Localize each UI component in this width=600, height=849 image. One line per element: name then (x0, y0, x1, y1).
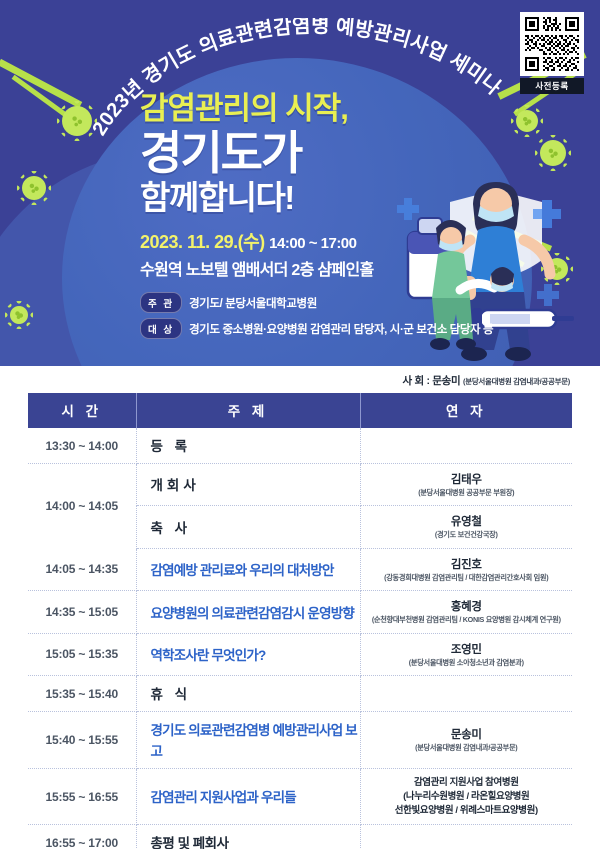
qr-code-icon[interactable] (520, 12, 584, 76)
cell-topic: 역학조사란 무엇인가? (136, 633, 360, 675)
virus-icon (22, 176, 46, 200)
hero-meta-row: 대 상 경기도 중소병원·요양병원 감염관리 담당자, 시·군 보건소 담당자 … (140, 318, 470, 339)
table-row: 14:35 ~ 15:05 요양병원의 의료관련감염감시 운영방향 홍혜경 (순… (28, 591, 572, 633)
table-row: 15:40 ~ 15:55 경기도 의료관련감염병 예방관리사업 보고 문송미 … (28, 712, 572, 769)
speaker-affiliation: (강동경희대병원 감염관리팀 / 대한감염관리간호사회 임원) (365, 573, 569, 583)
topic-text: 감염예방 관리료와 우리의 대처방안 (151, 563, 334, 578)
cell-topic: 요양병원의 의료관련감염감시 운영방향 (136, 591, 360, 633)
qr-label: 사전등록 (520, 78, 584, 94)
topic-text: 등 록 (151, 439, 192, 454)
table-row: 14:00 ~ 14:05 개회사 김태우 (분당서울대병원 공공부문 부원장) (28, 464, 572, 506)
schedule-table-head: 시 간 주 제 연 자 (28, 393, 572, 428)
event-time-text: 14:00 ~ 17:00 (269, 235, 356, 252)
cell-time: 16:55 ~ 17:00 (28, 825, 136, 849)
speaker-name: 유영철 (365, 513, 569, 529)
table-row: 15:35 ~ 15:40 휴 식 (28, 676, 572, 712)
speaker-name: 홍혜경 (365, 598, 569, 614)
cell-speaker: 김태우 (분당서울대병원 공공부문 부원장) (360, 464, 572, 506)
cell-speaker: 조영민 (분당서울대병원 소아청소년과 감염분과) (360, 633, 572, 675)
speaker-name: 김태우 (365, 471, 569, 487)
title-line-3: 함께합니다! (140, 179, 470, 217)
topic-text: 역학조사란 무엇인가? (151, 648, 266, 663)
host-label: 사 회 : 문송미 (403, 375, 461, 387)
hero-meta-list: 주 관 경기도/ 분당서울대학교병원 대 상 경기도 중소병원·요양병원 감염관… (140, 292, 470, 339)
host-affiliation: (분당서울대병원 감염내과/공공부문) (463, 377, 570, 386)
cell-speaker: 유영철 (경기도 보건건강국장) (360, 506, 572, 548)
cell-topic: 총평 및 폐회사 (136, 825, 360, 849)
speaker-affiliation: (순천향대부천병원 감염관리팀 / KONIS 요양병원 감시체계 연구원) (365, 615, 569, 625)
schedule-table-body: 13:30 ~ 14:00 등 록 14:00 ~ 14:05 개회사 김태우 … (28, 428, 572, 849)
poster-root: 2023년 경기도 의료관련감염병 예방관리사업 세미나 (0, 0, 600, 849)
topic-text: 요양병원의 의료관련감염감시 운영방향 (151, 606, 354, 621)
cell-speaker (360, 676, 572, 712)
cell-topic: 개회사 (136, 464, 360, 506)
cell-time: 14:35 ~ 15:05 (28, 591, 136, 633)
virus-icon (540, 140, 566, 166)
column-header-speaker: 연 자 (360, 393, 572, 428)
meta-text-audience: 경기도 중소병원·요양병원 감염관리 담당자, 시·군 보건소 담당자 등 (189, 321, 493, 337)
cell-time: 15:40 ~ 15:55 (28, 712, 136, 769)
speaker-affiliation: (분당서울대병원 감염내과/공공부문) (365, 743, 569, 753)
title-line-2: 경기도가 (140, 129, 470, 179)
host-line: 사 회 : 문송미 (분당서울대병원 감염내과/공공부문) (28, 366, 572, 393)
table-row: 16:55 ~ 17:00 총평 및 폐회사 (28, 825, 572, 849)
cell-speaker (360, 825, 572, 849)
hero-banner: 2023년 경기도 의료관련감염병 예방관리사업 세미나 (0, 0, 600, 366)
speaker-affiliation: (경기도 보건건강국장) (365, 530, 569, 540)
cell-speaker: 문송미 (분당서울대병원 감염내과/공공부문) (360, 712, 572, 769)
speaker-affiliation: (분당서울대병원 소아청소년과 감염분과) (365, 658, 569, 668)
speaker-affiliation: (나누리수원병원 / 라온힐요양병원 선한빛요양병원 / 위례스마트요양병원) (365, 790, 569, 818)
cell-time: 14:00 ~ 14:05 (28, 464, 136, 549)
cell-speaker: 김진호 (강동경희대병원 감염관리팀 / 대한감염관리간호사회 임원) (360, 548, 572, 590)
cell-speaker (360, 428, 572, 464)
main-content: 사 회 : 문송미 (분당서울대병원 감염내과/공공부문) 시 간 주 제 연 … (0, 366, 600, 849)
cell-topic: 휴 식 (136, 676, 360, 712)
title-line-1: 감염관리의 시작, (140, 92, 470, 127)
cell-time: 15:05 ~ 15:35 (28, 633, 136, 675)
speaker-name: 조영민 (365, 641, 569, 657)
cell-time: 14:05 ~ 14:35 (28, 548, 136, 590)
cell-time: 13:30 ~ 14:00 (28, 428, 136, 464)
column-header-time: 시 간 (28, 393, 136, 428)
event-date: 2023. 11. 29.(수) 14:00 ~ 17:00 (140, 228, 470, 254)
cell-time: 15:35 ~ 15:40 (28, 676, 136, 712)
meta-badge-audience: 대 상 (140, 318, 182, 339)
event-date-text: 2023. 11. 29.(수) (140, 232, 265, 252)
cell-topic: 등 록 (136, 428, 360, 464)
qr-registration-block[interactable]: 사전등록 (520, 12, 584, 94)
topic-text: 축 사 (151, 521, 192, 536)
cell-topic: 감염관리 지원사업과 우리들 (136, 769, 360, 825)
table-header-row: 시 간 주 제 연 자 (28, 393, 572, 428)
speaker-affiliation: (분당서울대병원 공공부문 부원장) (365, 488, 569, 498)
virus-icon (10, 306, 28, 324)
event-place: 수원역 노보텔 앰배서더 2층 샴페인홀 (140, 256, 470, 280)
hero-meta-row: 주 관 경기도/ 분당서울대학교병원 (140, 292, 470, 313)
table-row: 14:05 ~ 14:35 감염예방 관리료와 우리의 대처방안 김진호 (강동… (28, 548, 572, 590)
virus-icon (62, 106, 92, 136)
cell-speaker: 홍혜경 (순천향대부천병원 감염관리팀 / KONIS 요양병원 감시체계 연구… (360, 591, 572, 633)
meta-badge-host: 주 관 (140, 292, 182, 313)
cell-topic: 경기도 의료관련감염병 예방관리사업 보고 (136, 712, 360, 769)
hero-text-block: 감염관리의 시작, 경기도가 함께합니다! 2023. 11. 29.(수) 1… (140, 92, 470, 344)
topic-text: 감염관리 지원사업과 우리들 (151, 790, 296, 805)
speaker-name: 김진호 (365, 556, 569, 572)
cell-time: 15:55 ~ 16:55 (28, 769, 136, 825)
table-row: 13:30 ~ 14:00 등 록 (28, 428, 572, 464)
topic-text: 경기도 의료관련감염병 예방관리사업 보고 (151, 723, 357, 759)
speaker-name: 문송미 (365, 726, 569, 742)
topic-text: 휴 식 (151, 687, 192, 702)
speaker-name: 감염관리 지원사업 참여병원 (365, 776, 569, 790)
topic-text: 개회사 (151, 478, 200, 493)
schedule-table: 시 간 주 제 연 자 13:30 ~ 14:00 등 록 14:00 ~ 14… (28, 393, 572, 849)
virus-icon (516, 110, 538, 132)
meta-text-host: 경기도/ 분당서울대학교병원 (189, 295, 317, 311)
cell-topic: 축 사 (136, 506, 360, 548)
table-row: 15:05 ~ 15:35 역학조사란 무엇인가? 조영민 (분당서울대병원 소… (28, 633, 572, 675)
cell-speaker: 감염관리 지원사업 참여병원 (나누리수원병원 / 라온힐요양병원 선한빛요양병… (360, 769, 572, 825)
topic-text: 총평 및 폐회사 (151, 836, 229, 849)
table-row: 15:55 ~ 16:55 감염관리 지원사업과 우리들 감염관리 지원사업 참… (28, 769, 572, 825)
column-header-topic: 주 제 (136, 393, 360, 428)
cell-topic: 감염예방 관리료와 우리의 대처방안 (136, 548, 360, 590)
